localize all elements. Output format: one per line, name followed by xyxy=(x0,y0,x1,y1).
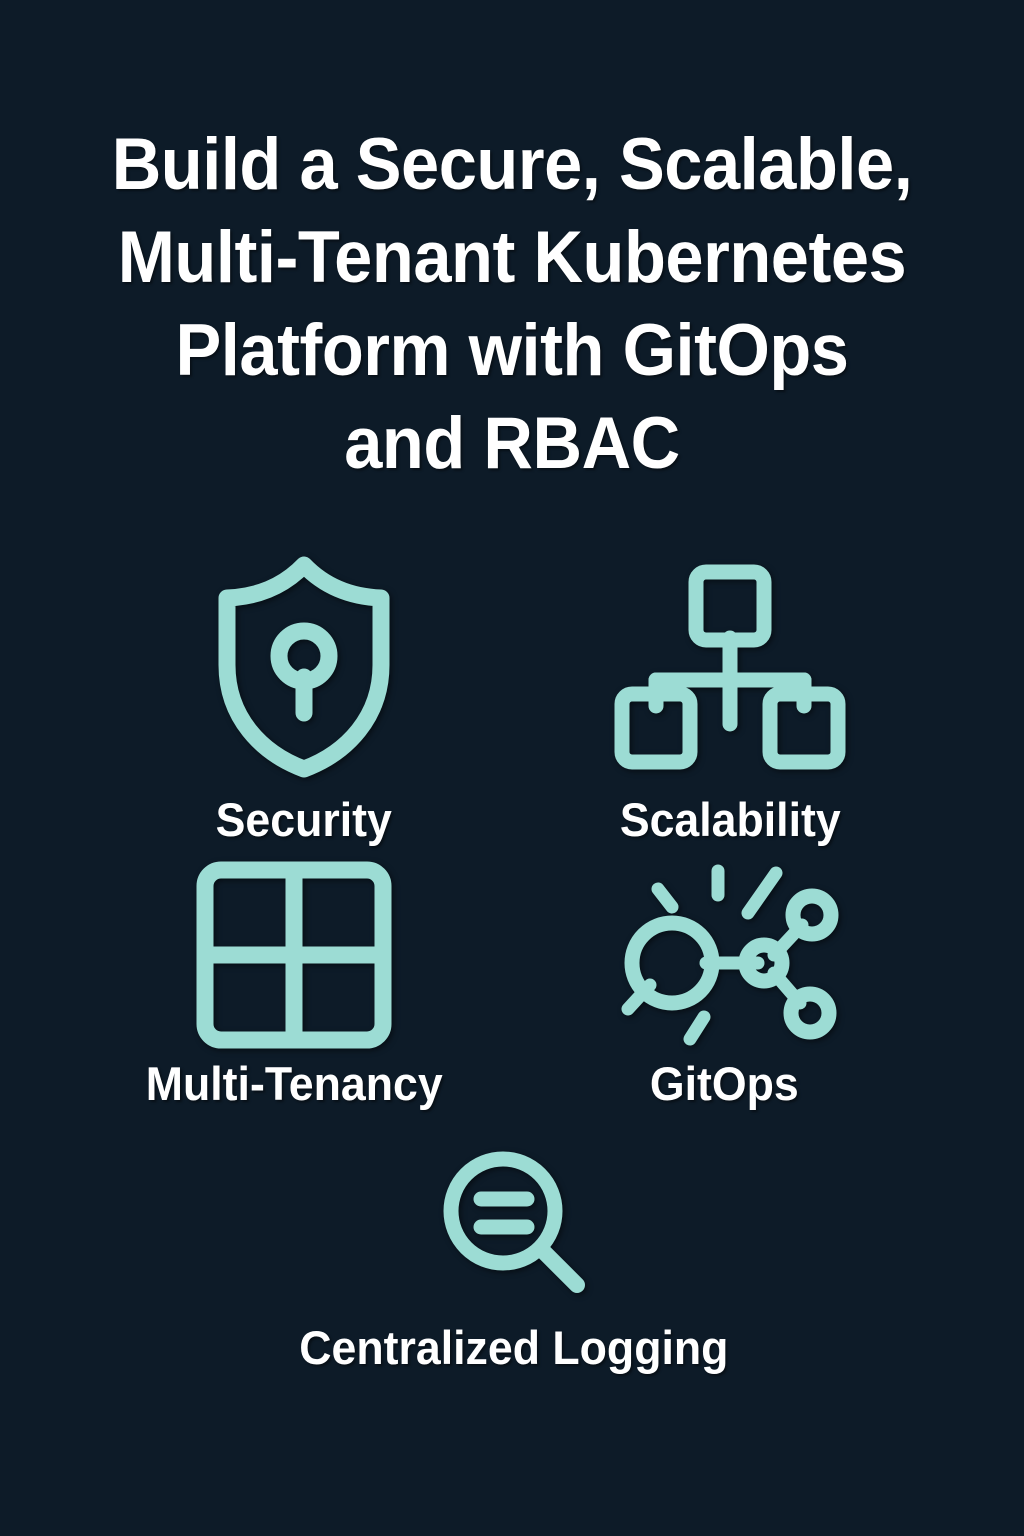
feature-row-2: Multi-Tenancy xyxy=(0,870,1024,1112)
magnifier-log-lines-icon xyxy=(435,1138,593,1308)
feature-item-security: Security xyxy=(104,552,504,848)
title-line-2: Multi-Tenant Kubernetes xyxy=(89,211,935,304)
hierarchy-tree-icon xyxy=(614,552,846,782)
feature-label-security: Security xyxy=(216,792,392,848)
infographic-poster: Build a Secure, Scalable, Multi-Tenant K… xyxy=(0,0,1024,1536)
feature-label-centralized-logging: Centralized Logging xyxy=(299,1320,728,1376)
feature-row-3: Centralized Logging xyxy=(0,1138,1024,1376)
feature-item-multi-tenancy: Multi-Tenancy xyxy=(94,870,494,1112)
feature-label-multi-tenancy: Multi-Tenancy xyxy=(146,1056,443,1112)
feature-label-scalability: Scalability xyxy=(620,792,841,848)
title-line-1: Build a Secure, Scalable, xyxy=(89,118,935,211)
title-line-3: Platform with GitOps xyxy=(89,304,935,397)
feature-item-scalability: Scalability xyxy=(530,552,930,848)
title-line-4: and RBAC xyxy=(89,397,935,490)
four-pane-grid-icon xyxy=(196,870,392,1040)
feature-row-1: Security xyxy=(0,552,1024,848)
page-title: Build a Secure, Scalable, Multi-Tenant K… xyxy=(62,118,962,490)
shield-keyhole-icon xyxy=(211,552,397,782)
feature-item-centralized-logging: Centralized Logging xyxy=(204,1138,824,1376)
branch-network-icon xyxy=(606,870,842,1040)
feature-item-gitops: GitOps xyxy=(524,870,924,1112)
feature-list: Security xyxy=(0,552,1024,1376)
feature-label-gitops: GitOps xyxy=(650,1056,799,1112)
